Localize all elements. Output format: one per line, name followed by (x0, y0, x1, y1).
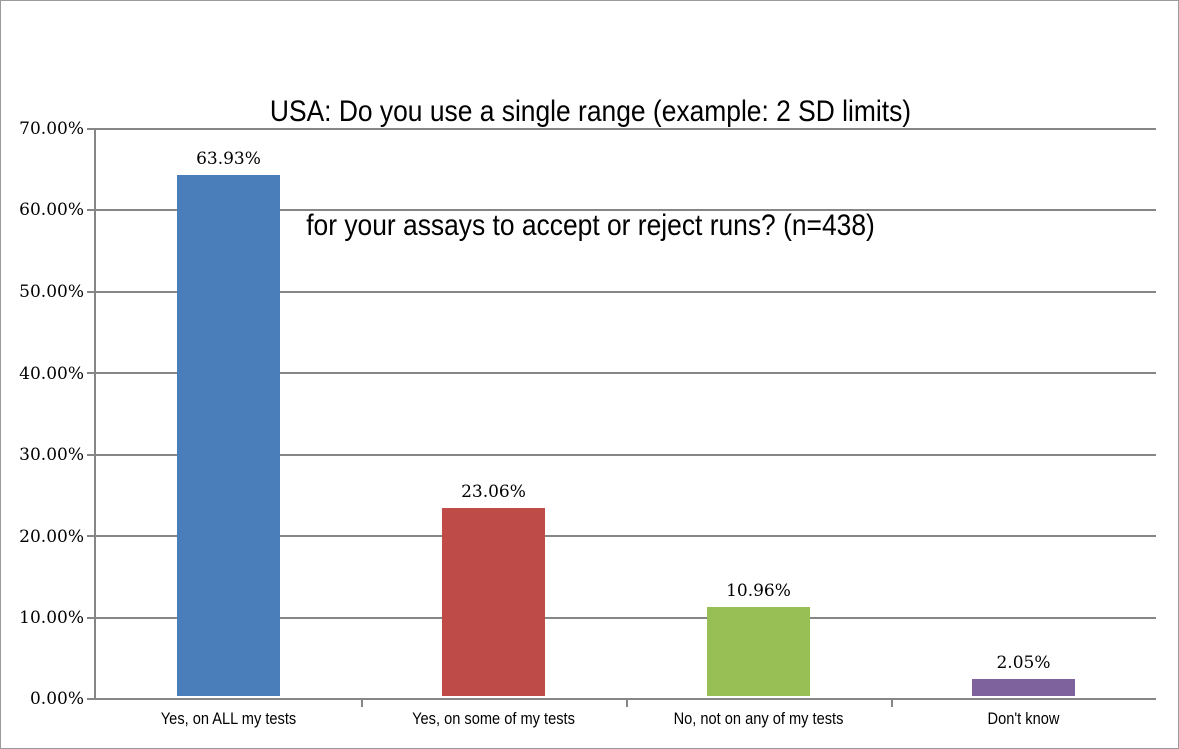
bar-data-label: 63.93% (148, 149, 309, 169)
y-axis-tick-label: 20.00% (1, 527, 84, 547)
bar-data-label: 10.96% (678, 581, 839, 601)
bar-data-label: 2.05% (943, 653, 1104, 673)
bar-data-label: 23.06% (413, 482, 574, 502)
y-tick-mark (87, 454, 96, 456)
y-tick-mark (87, 535, 96, 537)
y-tick-mark (87, 209, 96, 211)
y-axis-tick-label: 30.00% (1, 445, 84, 465)
x-axis-labels: Yes, on ALL my tests Yes, on some of my … (96, 709, 1156, 739)
y-tick-mark (87, 698, 96, 700)
y-axis-line (94, 128, 96, 700)
x-axis-category-label: Yes, on some of my tests (380, 709, 608, 739)
x-tick-mark (626, 698, 628, 707)
x-axis-category-label: Don't know (910, 709, 1138, 739)
bar-yes-some-of-my-tests[interactable] (442, 508, 545, 696)
plot-area: 63.93% 23.06% 10.96% 2.05% (96, 128, 1156, 698)
x-tick-mark (361, 698, 363, 707)
y-axis-tick-label: 40.00% (1, 364, 84, 384)
x-tick-mark (891, 698, 893, 707)
gridline-70 (96, 128, 1156, 130)
chart-title-line-1: USA: Do you use a single range (example:… (72, 93, 1110, 131)
chart-screenshot: USA: Do you use a single range (example:… (0, 0, 1179, 749)
y-axis-tick-label: 0.00% (1, 689, 84, 709)
bar-no-not-any-of-my-tests[interactable] (707, 607, 810, 696)
y-tick-mark (87, 291, 96, 293)
y-tick-mark (87, 372, 96, 374)
bar-yes-all-my-tests[interactable] (177, 175, 280, 696)
x-axis-category-label: Yes, on ALL my tests (115, 709, 343, 739)
y-tick-mark (87, 128, 96, 130)
x-axis-category-label: No, not on any of my tests (645, 709, 873, 739)
y-axis-tick-label: 10.00% (1, 608, 84, 628)
y-tick-mark (87, 617, 96, 619)
bar-dont-know[interactable] (972, 679, 1075, 696)
